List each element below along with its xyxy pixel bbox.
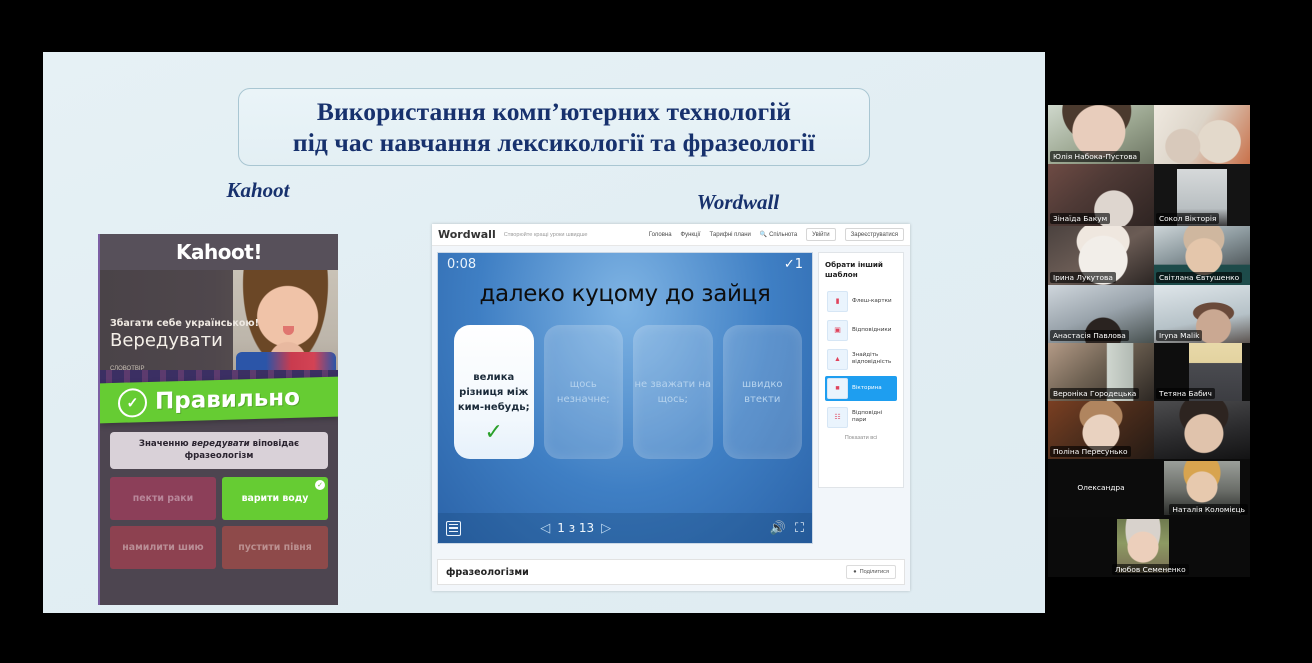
game-card-1-label: велика різниця між ким-небудь; — [454, 370, 534, 415]
video-row: Поліна Пересунько — [1048, 401, 1250, 459]
wordwall-game-area: 0:08 ✓1 далеко куцому до зайця велика рі… — [437, 252, 813, 544]
presentation-slide: Використання комп’ютерних технологій під… — [43, 52, 1045, 613]
slide-title-box: Використання комп’ютерних технологій під… — [238, 88, 870, 166]
game-pager: ◁ 1 з 13 ▷ — [540, 521, 611, 536]
kahoot-answer-3[interactable]: намилити шию — [110, 526, 216, 569]
video-row: Вероніка Городецька Тетяна Бабич — [1048, 343, 1250, 401]
video-tile[interactable]: Наталія Коломієць — [1154, 459, 1250, 517]
kahoot-logo: Kahoot! — [176, 240, 262, 264]
participant-name: Юлія Набока-Пустова — [1050, 151, 1140, 162]
video-tile[interactable] — [1154, 105, 1250, 164]
signup-button[interactable]: Зареєструватися — [845, 228, 904, 241]
kahoot-header: Kahoot! — [100, 234, 338, 270]
video-row: Олександра Наталія Коломієць — [1048, 459, 1250, 517]
template-item-find-match-label: Знайдіть відповідність — [852, 352, 895, 367]
volume-icon[interactable]: 🔊 — [770, 520, 786, 536]
video-row: Анастасія Павлова Iryna Malik — [1048, 285, 1250, 343]
video-tile[interactable] — [1154, 401, 1250, 459]
wordwall-tagline: Створюйте кращі уроки швидше — [504, 232, 588, 238]
kahoot-image-subtitle: Збагати себе українською! — [110, 318, 259, 329]
participant-name: Тетяна Бабич — [1156, 388, 1215, 399]
kahoot-answer-grid: пекти раки варити воду ✓ намилити шию пу… — [110, 477, 328, 569]
wordwall-navbar: Wordwall Створюйте кращі уроки швидше Го… — [432, 224, 910, 246]
template-item-flashcards[interactable]: ▮ Флеш-картки — [825, 289, 897, 314]
template-picker-heading: Обрати інший шаблон — [825, 260, 897, 281]
participant-name: Вероніка Городецька — [1050, 388, 1139, 399]
participant-name: Любов Семененко — [1112, 564, 1189, 575]
menu-icon[interactable] — [446, 521, 461, 536]
video-tile[interactable]: Світлана Євтушенко — [1154, 226, 1250, 285]
matching-pairs-icon: ☷ — [827, 407, 848, 428]
template-item-match[interactable]: ▣ Відповідники — [825, 318, 897, 343]
kahoot-question-text: Значенню вередувати віповідає фразеологі… — [110, 432, 328, 469]
video-participant-grid: Юлія Набока-Пустова Зінаїда Бакум Сокол … — [1048, 105, 1250, 560]
kahoot-answer-2-label: варити воду — [242, 493, 309, 504]
kahoot-question-image: Збагати себе українською! Вередувати СЛО… — [100, 270, 338, 386]
wordwall-logo: Wordwall — [438, 228, 496, 241]
slide-title-line-2: під час навчання лексикології та фразеол… — [293, 127, 815, 158]
prev-triangle-icon[interactable]: ◁ — [540, 521, 550, 536]
participant-name: Сокол Вікторія — [1156, 213, 1219, 224]
nav-item-community-label: Спільнота — [769, 232, 797, 238]
flashcards-icon: ▮ — [827, 291, 848, 312]
video-row: Ірина Лукутова Світлана Євтушенко — [1048, 226, 1250, 285]
game-score: ✓1 — [784, 257, 803, 272]
video-tile[interactable]: Анастасія Павлова — [1048, 285, 1154, 343]
participant-name: Ірина Лукутова — [1050, 272, 1116, 283]
check-icon: ✓ — [485, 416, 503, 449]
game-card-1[interactable]: велика різниця між ким-небудь; ✓ — [454, 325, 534, 459]
video-tile[interactable]: Поліна Пересунько — [1048, 401, 1154, 459]
screen: Використання комп’ютерних технологій під… — [0, 0, 1312, 663]
video-feed — [1154, 105, 1250, 164]
video-tile[interactable]: Тетяна Бабич — [1154, 343, 1250, 401]
video-tile[interactable]: Юлія Набока-Пустова — [1048, 105, 1154, 164]
kahoot-correct-text: Правильно — [155, 385, 300, 415]
template-picker: Обрати інший шаблон ▮ Флеш-картки ▣ Відп… — [818, 252, 904, 488]
wordwall-footer: фразеологізми ● Поділитися — [437, 559, 905, 585]
question-prefix: Значенню — [139, 439, 192, 449]
participant-name: Наталія Коломієць — [1169, 504, 1248, 515]
activity-title: фразеологізми — [446, 567, 529, 578]
video-tile[interactable]: Iryna Malik — [1154, 285, 1250, 343]
participant-name: Олександра — [1074, 482, 1127, 493]
wordwall-screenshot: Wordwall Створюйте кращі уроки швидше Го… — [432, 224, 910, 591]
video-row: Юлія Набока-Пустова — [1048, 105, 1250, 164]
share-button[interactable]: ● Поділитися — [846, 565, 896, 579]
template-item-find-match[interactable]: ▲ Знайдіть відповідність — [825, 347, 897, 372]
video-row: Любов Семененко — [1048, 517, 1250, 577]
kahoot-screenshot: Kahoot! Збагати себе українською! Вереду… — [98, 234, 338, 605]
kahoot-answer-2[interactable]: варити воду ✓ — [222, 477, 328, 520]
wordwall-heading: Wordwall — [608, 190, 868, 215]
globe-icon: ● — [853, 569, 856, 575]
kahoot-image-word: Вередувати — [110, 330, 223, 351]
find-match-icon: ▲ — [827, 349, 848, 370]
video-tile[interactable]: Вероніка Городецька — [1048, 343, 1154, 401]
slide-title-line-1: Використання комп’ютерних технологій — [317, 96, 791, 127]
question-word: вередувати — [192, 439, 250, 449]
template-item-matching-pairs[interactable]: ☷ Відповідні пари — [825, 405, 897, 430]
video-tile[interactable]: Ірина Лукутова — [1048, 226, 1154, 285]
participant-name: Анастасія Павлова — [1050, 330, 1129, 341]
participant-name: Світлана Євтушенко — [1156, 272, 1242, 283]
kahoot-heading: Kahoot — [178, 178, 338, 203]
game-toolbar: ◁ 1 з 13 ▷ 🔊 ⛶ — [438, 513, 812, 543]
game-score-value: 1 — [795, 257, 803, 272]
kahoot-answer-1[interactable]: пекти раки — [110, 477, 216, 520]
participant-name: Зінаїда Бакум — [1050, 213, 1110, 224]
login-button[interactable]: Увійти — [806, 228, 835, 241]
game-toolbar-right: 🔊 ⛶ — [770, 520, 804, 536]
template-item-match-label: Відповідники — [852, 327, 891, 335]
video-tile[interactable]: Любов Семененко — [1048, 517, 1250, 577]
game-card-3[interactable]: не зважати на щось; — [633, 325, 713, 459]
fullscreen-icon[interactable]: ⛶ — [795, 520, 804, 536]
video-tile[interactable]: Олександра — [1048, 459, 1154, 517]
wordwall-body: 0:08 ✓1 далеко куцому до зайця велика рі… — [432, 246, 910, 591]
check-icon: ✓ — [118, 388, 147, 418]
share-button-label: Поділитися — [860, 569, 889, 575]
kahoot-answer-4[interactable]: пустити півня — [222, 526, 328, 569]
check-icon: ✓ — [315, 480, 325, 490]
template-item-quiz[interactable]: ■ Вікторина — [825, 376, 897, 401]
wordwall-nav-links: Головна Функції Тарифні плани 🔍 Спільнот… — [649, 228, 904, 241]
video-tile[interactable]: Сокол Вікторія — [1154, 164, 1250, 226]
nav-item-community[interactable]: 🔍 Спільнота — [760, 231, 797, 238]
quiz-icon: ■ — [827, 378, 848, 399]
nav-item-features[interactable]: Функції — [681, 232, 701, 238]
kahoot-correct-banner: ✓ Правильно — [100, 377, 338, 424]
template-item-matching-pairs-label: Відповідні пари — [852, 410, 895, 425]
next-triangle-icon[interactable]: ▷ — [601, 521, 611, 536]
template-show-all-link[interactable]: Показати всі — [825, 435, 897, 441]
template-item-quiz-label: Вікторина — [852, 385, 882, 393]
nav-item-pricing[interactable]: Тарифні плани — [709, 232, 750, 238]
game-cards: велика різниця між ким-небудь; ✓ щось не… — [454, 325, 802, 459]
game-pager-label: 1 з 13 — [557, 521, 594, 535]
participant-name: Поліна Пересунько — [1050, 446, 1131, 457]
game-prompt: далеко куцому до зайця — [438, 281, 812, 307]
game-timer: 0:08 — [447, 257, 476, 272]
video-tile[interactable]: Зінаїда Бакум — [1048, 164, 1154, 226]
search-icon: 🔍 — [760, 232, 767, 238]
video-feed — [1154, 401, 1250, 459]
game-card-4[interactable]: швидко втекти — [723, 325, 803, 459]
video-row: Зінаїда Бакум Сокол Вікторія — [1048, 164, 1250, 226]
template-item-flashcards-label: Флеш-картки — [852, 298, 892, 306]
match-icon: ▣ — [827, 320, 848, 341]
participant-name: Iryna Malik — [1156, 330, 1202, 341]
nav-item-home[interactable]: Головна — [649, 232, 672, 238]
game-card-2[interactable]: щось незначне; — [544, 325, 624, 459]
